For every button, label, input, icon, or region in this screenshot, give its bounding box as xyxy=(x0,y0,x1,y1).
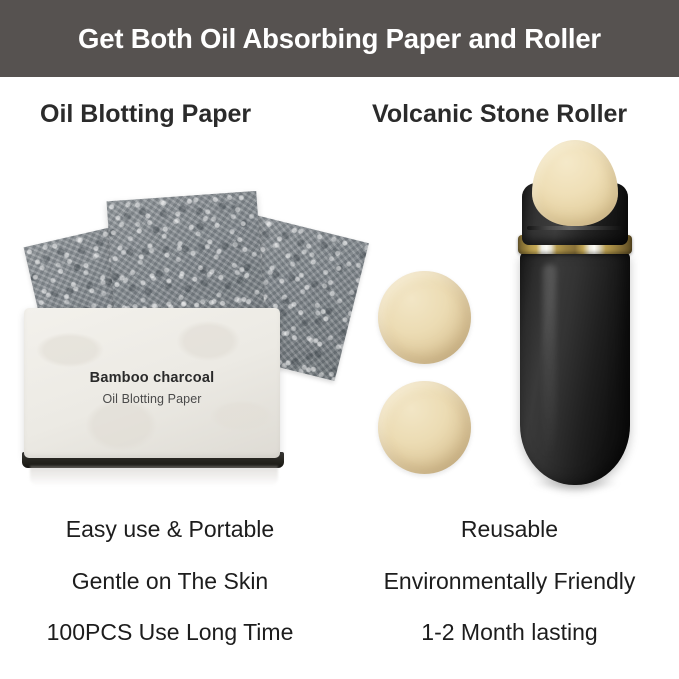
roller-cap-seam xyxy=(527,226,623,230)
left-feature-3: 100PCS Use Long Time xyxy=(0,619,340,646)
right-feature-2: Environmentally Friendly xyxy=(340,568,679,595)
product-infographic: Get Both Oil Absorbing Paper and Roller … xyxy=(0,0,679,679)
box-label-sub: Oil Blotting Paper xyxy=(24,392,280,406)
box-label-main: Bamboo charcoal xyxy=(24,370,280,386)
paper-box: Bamboo charcoal Oil Blotting Paper xyxy=(24,308,280,458)
roller-body-highlight xyxy=(543,264,556,460)
roller-body xyxy=(520,250,630,485)
left-feature-2: Gentle on The Skin xyxy=(0,568,340,595)
volcanic-stone-ball xyxy=(378,271,471,364)
left-column-title: Oil Blotting Paper xyxy=(40,100,251,129)
header-banner: Get Both Oil Absorbing Paper and Roller xyxy=(0,0,679,77)
volcanic-stone-ball xyxy=(378,381,471,474)
left-feature-1: Easy use & Portable xyxy=(0,516,340,543)
roller-stone-head xyxy=(532,140,618,226)
header-title: Get Both Oil Absorbing Paper and Roller xyxy=(78,23,601,55)
right-feature-1: Reusable xyxy=(340,516,679,543)
roller-device xyxy=(505,140,645,485)
right-feature-3: 1-2 Month lasting xyxy=(340,619,679,646)
right-column-title: Volcanic Stone Roller xyxy=(372,100,627,129)
paper-box-reflection xyxy=(30,466,278,486)
